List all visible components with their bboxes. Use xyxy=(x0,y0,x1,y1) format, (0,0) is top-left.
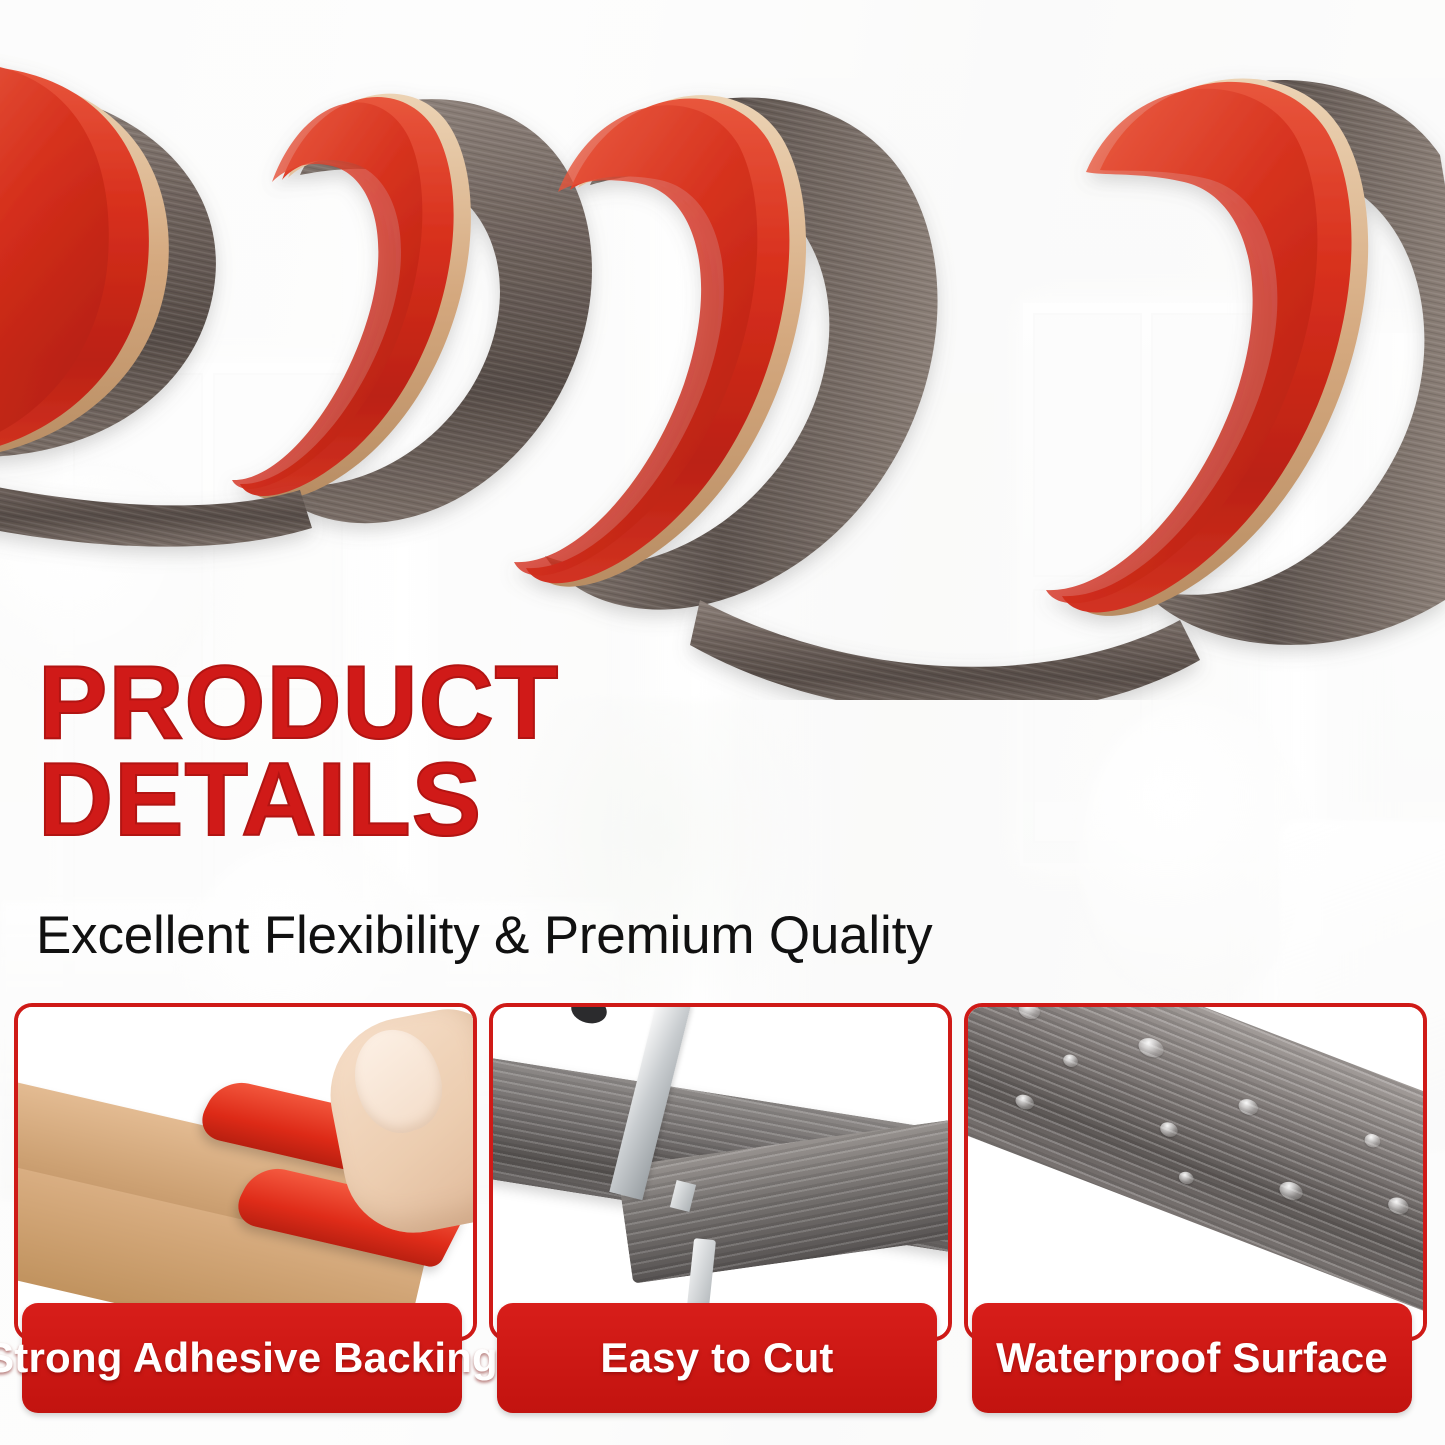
coil-4 xyxy=(1046,78,1445,644)
feature-caption-cut-label: Easy to Cut xyxy=(600,1334,833,1382)
page-title-line-2: DETAILS xyxy=(38,752,559,849)
coil-2 xyxy=(232,94,592,524)
feature-image-waterproof xyxy=(968,1007,1423,1337)
page-subtitle: Excellent Flexibility & Premium Quality xyxy=(36,905,932,966)
feature-caption-cut: Easy to Cut xyxy=(497,1303,937,1413)
feature-caption-waterproof: Waterproof Surface xyxy=(972,1303,1412,1413)
feature-panel-cut xyxy=(489,1003,952,1341)
feature-image-cut xyxy=(493,1007,948,1337)
feature-caption-adhesive-label: Strong Adhesive Backing xyxy=(0,1334,498,1382)
feature-panel-waterproof xyxy=(964,1003,1427,1341)
scissors-pivot xyxy=(568,1007,609,1027)
page-title-line-1: PRODUCT xyxy=(38,655,559,752)
hero-product-coils xyxy=(0,0,1445,700)
product-details-infographic: PRODUCT DETAILS Excellent Flexibility & … xyxy=(0,0,1445,1445)
feature-panel-adhesive xyxy=(14,1003,477,1341)
coil-tail-left xyxy=(0,455,312,547)
feature-caption-waterproof-label: Waterproof Surface xyxy=(996,1334,1388,1382)
coil-tail xyxy=(690,600,1200,700)
page-title: PRODUCT DETAILS xyxy=(38,655,559,848)
woodgrain-wet-strip xyxy=(968,1007,1423,1337)
coil-illustration xyxy=(0,0,1445,700)
coil-1 xyxy=(0,61,216,461)
feature-caption-adhesive: Strong Adhesive Backing xyxy=(22,1303,462,1413)
feature-image-adhesive xyxy=(18,1007,473,1337)
